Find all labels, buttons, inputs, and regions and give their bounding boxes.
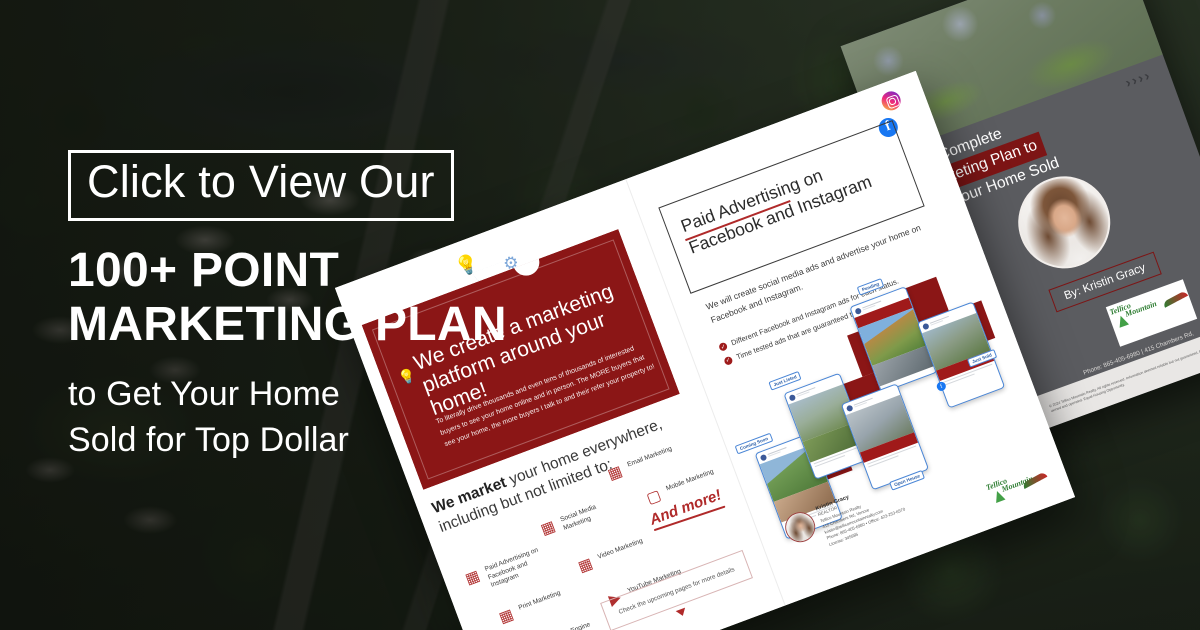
profile-avatar-icon	[846, 404, 854, 412]
right-page-brand-logo: Tellico Mountain realty	[982, 460, 1052, 511]
profile-avatar-icon	[922, 322, 930, 330]
qr-social-media-icon: ▦	[536, 516, 560, 540]
qr-paid-ads-icon: ▦	[460, 565, 484, 589]
tellico-logo-mark: Tellico Mountain realty	[982, 460, 1052, 511]
avatar-face	[782, 509, 818, 545]
channel-label: Paid Advertising on Facebook and Instagr…	[483, 542, 551, 591]
qr-print-icon: ▦	[494, 604, 518, 628]
channel-label: Print Marketing	[517, 587, 563, 613]
mobile-phone-icon: ▢	[642, 485, 666, 509]
headline-line-1: 100+ POINT	[68, 245, 488, 297]
caret-down-icon	[676, 608, 688, 618]
channel-label: Social Media Marketing	[558, 492, 623, 533]
cta-label: Click to View Our	[87, 159, 435, 206]
headline-overlay: Click to View Our 100+ POINT MARKETING P…	[68, 150, 488, 461]
qr-video-icon: ▦	[573, 553, 597, 577]
channel-label: Video Marketing	[596, 535, 645, 563]
subheadline-line-1: to Get Your Home	[68, 374, 488, 415]
channel-video-marketing: ▦ Video Marketing	[573, 535, 647, 578]
check-circle-icon	[723, 356, 733, 366]
profile-avatar-icon	[759, 453, 767, 461]
profile-avatar-icon	[788, 393, 796, 401]
click-to-view-cta[interactable]: Click to View Our	[68, 150, 454, 221]
profile-avatar-icon	[854, 307, 862, 315]
headline-line-2: MARKETING PLAN	[68, 299, 488, 351]
channel-label: Search Engine Marketing	[547, 612, 612, 630]
channel-print-marketing: ▦ Print Marketing	[494, 587, 565, 629]
check-circle-icon	[718, 342, 728, 352]
channel-social-media: ▦ Social Media Marketing	[536, 492, 624, 541]
subheadline-line-2: Sold for Top Dollar	[68, 420, 488, 461]
channel-paid-advertising: ▦ Paid Advertising on Facebook and Insta…	[460, 542, 551, 599]
instagram-icon	[879, 89, 903, 113]
